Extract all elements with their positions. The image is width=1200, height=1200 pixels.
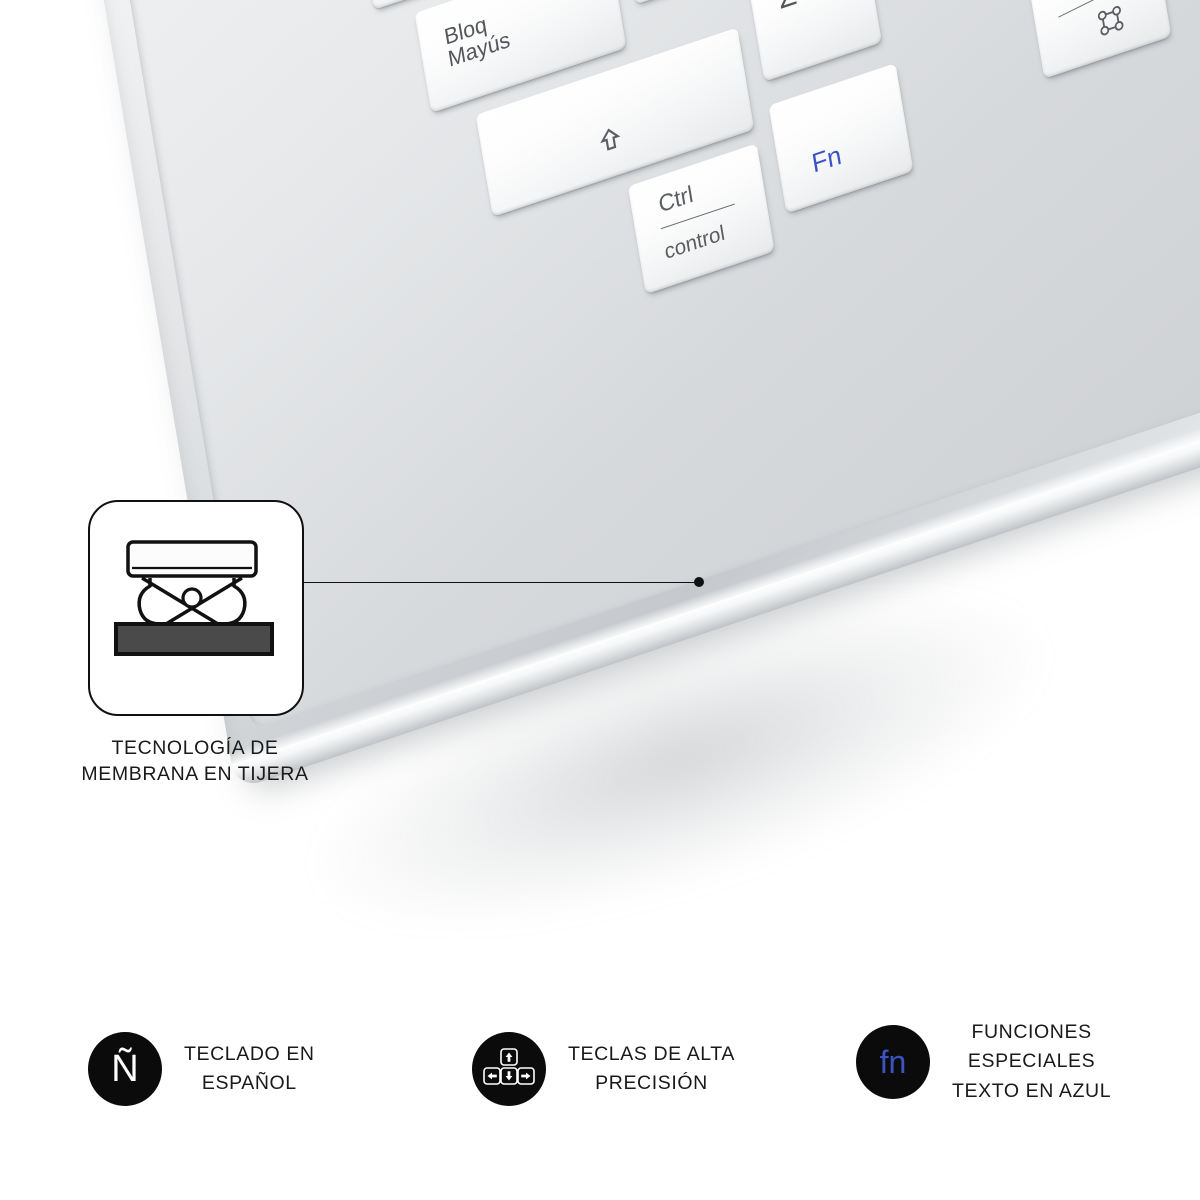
feature-fn-functions: fn FUNCIONES ESPECIALES TEXTO EN AZUL [856,1018,1111,1106]
feature-fn-functions-text: FUNCIONES ESPECIALES TEXTO EN AZUL [952,1018,1111,1106]
feature-1-line-1: PRECISIÓN [595,1072,708,1094]
feature-0-line-1: ESPAÑOL [202,1072,297,1094]
key-ctrl-line1: Ctrl [657,182,695,216]
shift-arrow-icon [594,121,628,164]
feature-2-line-2: TEXTO EN AZUL [952,1080,1111,1102]
enye-glyph: Ñ [111,1050,138,1088]
feature-2-line-1: ESPECIALES [968,1050,1095,1072]
callout-caption-line1: TECNOLOGÍA DE [111,737,278,759]
callout-caption: TECNOLOGÍA DE MEMBRANA EN TIJERA [20,735,370,788]
feature-bar: Ñ TECLADO EN ESPAÑOL [0,1010,1200,1200]
feature-2-line-0: FUNCIONES [971,1021,1091,1043]
key-a[interactable]: A IOS [618,0,749,5]
callout-leader-line [300,582,700,583]
callout-anchor-dot [694,577,704,587]
key-z-label: Z [776,0,798,15]
feature-spanish-layout-text: TECLADO EN ESPAÑOL [184,1040,315,1099]
feature-0-line-0: TECLADO EN [184,1043,315,1065]
keyboard-photo: F1 F2 F3 [0,0,1200,1010]
command-icon [1095,2,1127,43]
key-ctrl-line2: control [663,222,726,263]
key-fn[interactable]: Fn [768,63,913,213]
key-command[interactable] [1026,0,1171,79]
fn-key-icon: fn [856,1025,930,1099]
product-infographic: F1 F2 F3 [0,0,1200,1200]
key-ctrl[interactable]: Ctrl control [628,143,775,294]
fn-glyph: fn [880,1046,907,1078]
windows-logo-icon [1055,0,1085,4]
feature-precision-keys: TECLAS DE ALTA PRECISIÓN [472,1032,735,1106]
enye-letter-icon: Ñ [88,1032,162,1106]
feature-spanish-layout: Ñ TECLADO EN ESPAÑOL [88,1032,315,1106]
arrow-keys-icon [472,1032,546,1106]
scissor-tech-callout-box [88,500,304,716]
key-fn-label: Fn [810,141,843,177]
key-z[interactable]: Z [747,0,882,82]
feature-1-line-0: TECLAS DE ALTA [568,1043,735,1065]
callout-caption-line2: MEMBRANA EN TIJERA [81,763,308,785]
feature-precision-keys-text: TECLAS DE ALTA PRECISIÓN [568,1040,735,1099]
